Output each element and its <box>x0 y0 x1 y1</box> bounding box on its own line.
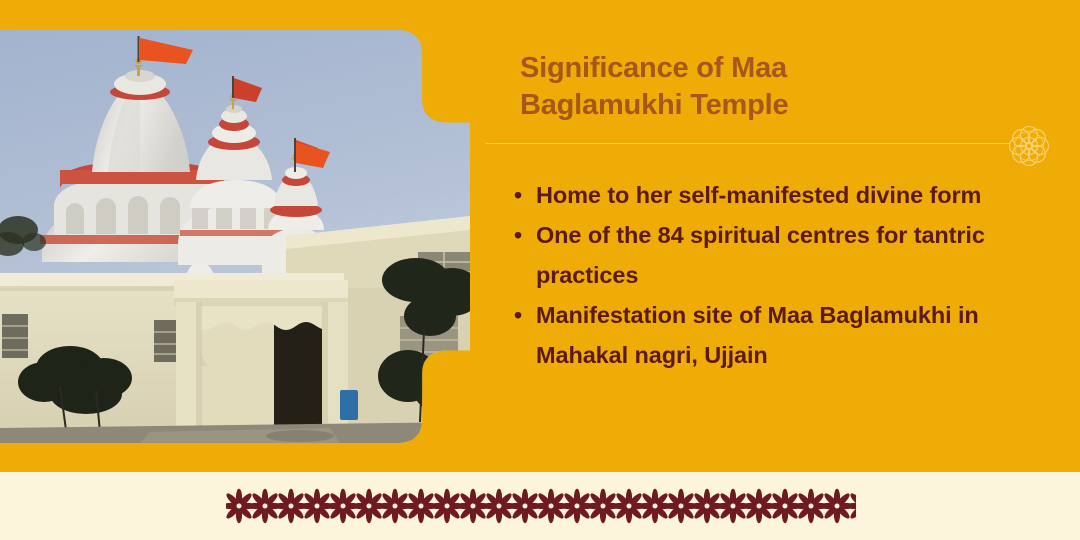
flower-border-strip <box>226 486 856 526</box>
temple-photo <box>0 30 470 443</box>
slide-canvas: Significance of MaaBaglamukhi Temple Hom… <box>0 0 1080 540</box>
bullet-list: Home to her self-manifested divine form … <box>506 175 1066 375</box>
content-column: Significance of MaaBaglamukhi Temple Hom… <box>486 0 1080 472</box>
page-title: Significance of MaaBaglamukhi Temple <box>520 50 1020 124</box>
list-item: Manifestation site of Maa Baglamukhi in … <box>506 295 1066 375</box>
temple-photo-frame <box>0 30 470 443</box>
title-line-2: Baglamukhi Temple <box>520 89 788 121</box>
list-item: Home to her self-manifested divine form <box>506 175 1066 215</box>
title-line-1: Significance of Maa <box>520 52 787 84</box>
list-item: One of the 84 spiritual centres for tant… <box>506 215 1066 295</box>
mandala-flower-icon <box>1004 121 1054 171</box>
horizontal-divider <box>486 143 1010 144</box>
